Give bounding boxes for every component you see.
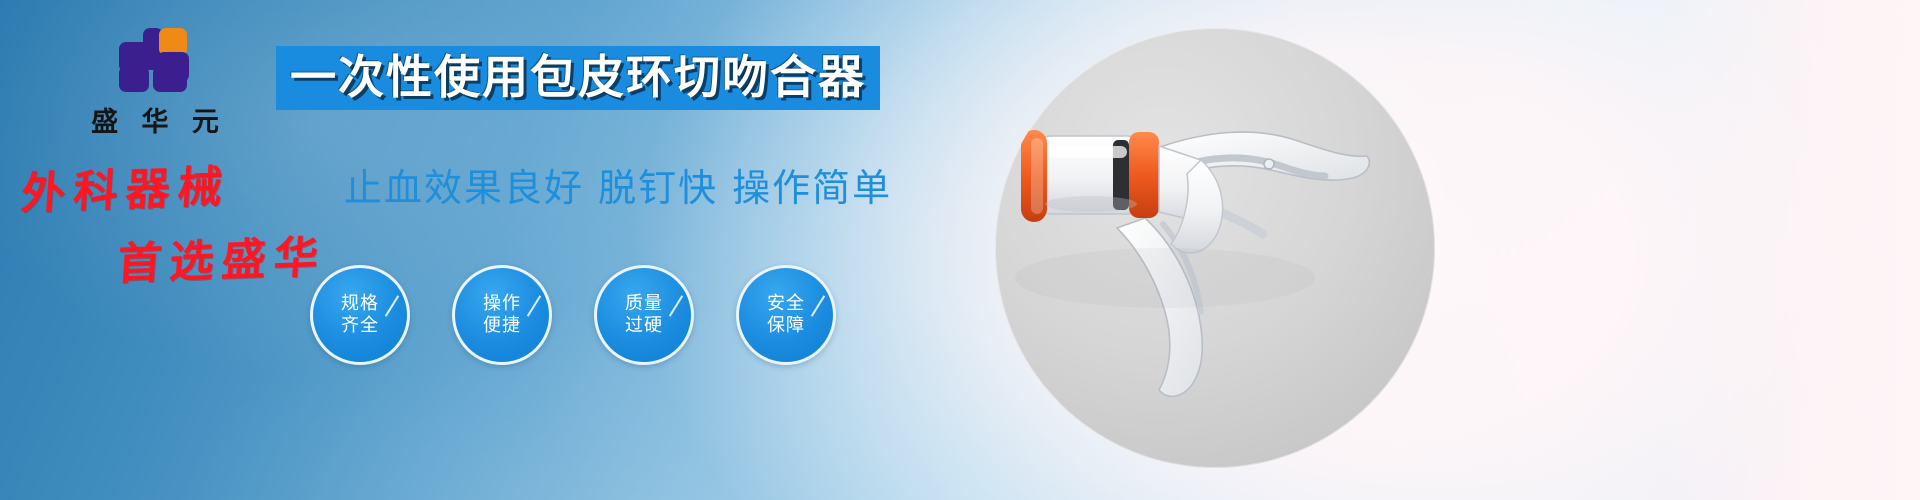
slash-icon (527, 295, 541, 316)
headline-band: 一次性使用包皮环切吻合器 (276, 46, 880, 110)
feature-circle-4-line1: 安全 (767, 293, 805, 315)
brand-logo[interactable]: 盛 华 元 (60, 28, 250, 139)
feature-circle-3-line1: 质量 (625, 293, 663, 315)
feature-circle-3-line2: 过硬 (625, 315, 663, 337)
feature-circle-1[interactable]: 规格 齐全 (310, 265, 410, 365)
slash-icon (811, 295, 825, 316)
product-image (995, 28, 1435, 468)
product-illustration (995, 28, 1435, 468)
feature-circle-2-line2: 便捷 (483, 315, 521, 337)
promo-banner: 盛 华 元 一次性使用包皮环切吻合器 外科器械 首选盛华 止血效果良好 脱钉快 … (0, 0, 1920, 500)
subtitle: 止血效果良好 脱钉快 操作简单 (344, 165, 892, 211)
feature-circle-4[interactable]: 安全 保障 (736, 265, 836, 365)
calligraphy-slogan: 外科器械 首选盛华 (22, 152, 352, 288)
feature-circle-2-line1: 操作 (483, 293, 521, 315)
feature-circle-2[interactable]: 操作 便捷 (452, 265, 552, 365)
feature-circle-3[interactable]: 质量 过硬 (594, 265, 694, 365)
feature-circle-1-line1: 规格 (341, 293, 379, 315)
feature-circle-4-line2: 保障 (767, 315, 805, 337)
calligraphy-line-1: 外科器械 (19, 146, 354, 221)
page-title: 一次性使用包皮环切吻合器 (290, 52, 866, 102)
feature-circle-1-line2: 齐全 (341, 315, 379, 337)
slash-icon (669, 295, 683, 316)
feature-circle-list: 规格 齐全 操作 便捷 质量 过硬 安全 保障 (310, 265, 836, 365)
right-edge-fade (1660, 0, 1920, 500)
brand-logo-icon (119, 28, 191, 94)
slash-icon (385, 295, 399, 316)
brand-name: 盛 华 元 (60, 100, 250, 139)
